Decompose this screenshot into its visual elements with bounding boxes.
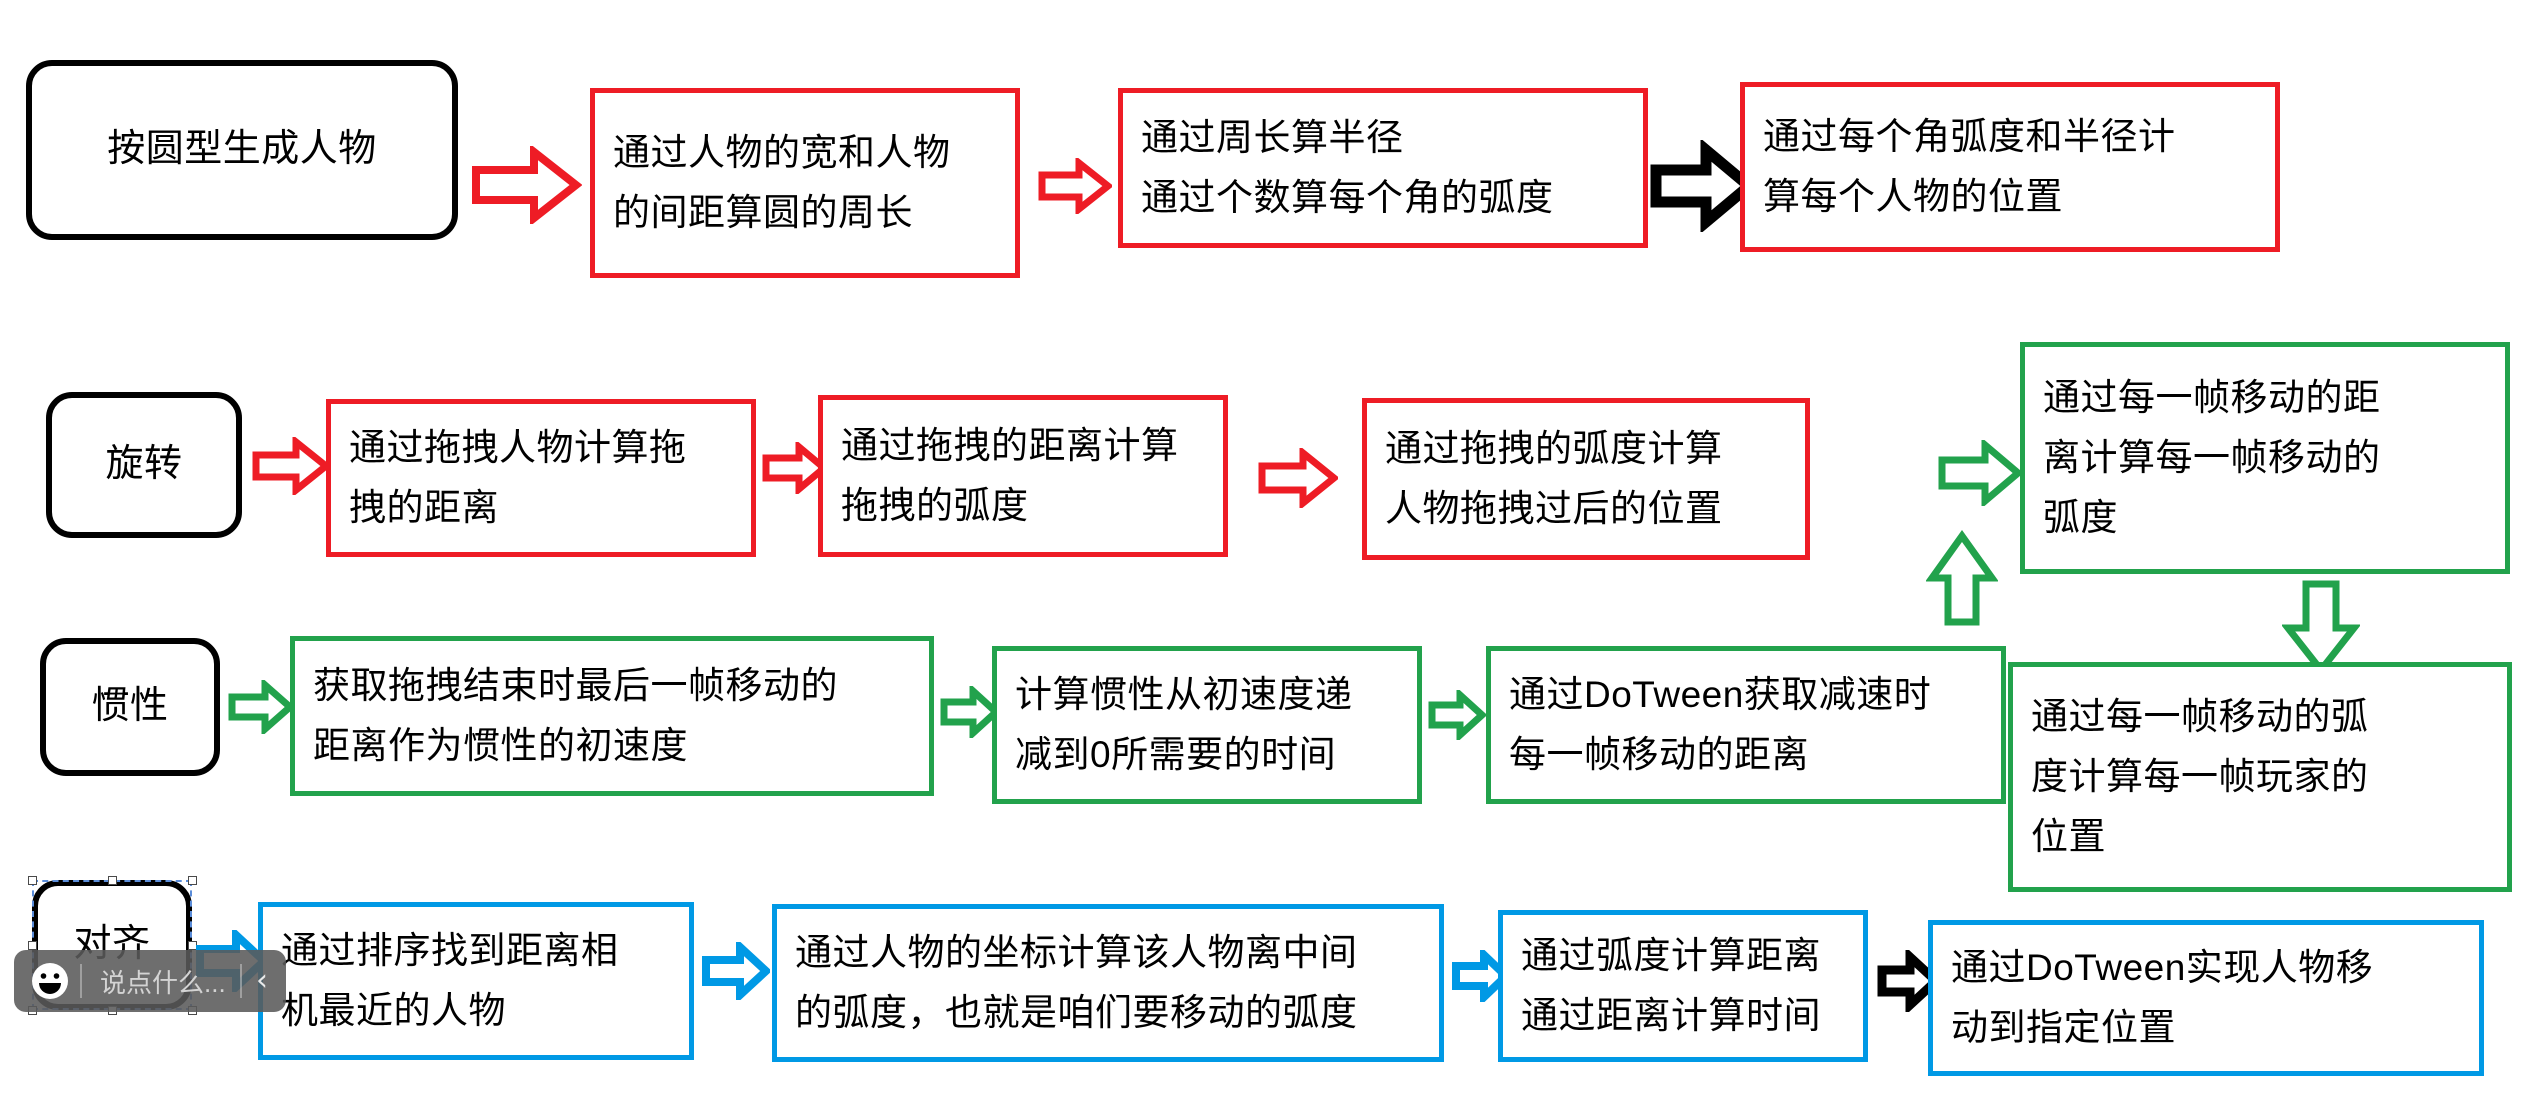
step-box-r4-4-label: 通过DoTween实现人物移 动到指定位置: [1933, 938, 2479, 1058]
step-box-r1-2[interactable]: 通过周长算半径 通过个数算每个角的弧度: [1118, 88, 1648, 248]
right-box-bottom[interactable]: 通过每一帧移动的弧 度计算每一帧玩家的 位置: [2008, 662, 2512, 892]
arrow-red-r2-3: [1258, 448, 1338, 508]
step-box-r3-3-label: 通过DoTween获取减速时 每一帧移动的距离: [1491, 665, 2001, 785]
start-node-rotate[interactable]: 旋转: [46, 392, 242, 538]
step-box-r2-2-label: 通过拖拽的距离计算 拖拽的弧度: [823, 416, 1223, 536]
arrow-green-to-right-top: [1938, 440, 2022, 506]
start-node-generate[interactable]: 按圆型生成人物: [26, 60, 458, 240]
arrow-red-r1-1: [472, 146, 582, 224]
step-box-r4-1[interactable]: 通过排序找到距离相 机最近的人物: [258, 902, 694, 1060]
start-node-inertia-label: 惯性: [91, 676, 168, 738]
chat-divider-left: [80, 964, 82, 998]
arrow-red-r2-1: [252, 437, 330, 495]
chat-input-bar[interactable]: 说点什么... ‹: [14, 950, 286, 1012]
step-box-r4-3-label: 通过弧度计算距离 通过距离计算时间: [1503, 926, 1863, 1046]
smiley-face-icon[interactable]: [30, 961, 70, 1001]
step-box-r1-3[interactable]: 通过每个角弧度和半径计 算每个人物的位置: [1740, 82, 2280, 252]
chevron-left-icon[interactable]: ‹: [252, 966, 286, 996]
arrow-red-r1-2: [1038, 158, 1112, 214]
selection-handle-n[interactable]: [108, 876, 117, 885]
step-box-r4-2[interactable]: 通过人物的坐标计算该人物离中间 的弧度，也就是咱们要移动的弧度: [772, 904, 1444, 1062]
flowchart-canvas: 按圆型生成人物 通过人物的宽和人物 的间距算圆的周长 通过周长算半径 通过个数算…: [0, 0, 2531, 1095]
right-box-bottom-label: 通过每一帧移动的弧 度计算每一帧玩家的 位置: [2013, 687, 2507, 867]
selection-handle-w[interactable]: [28, 941, 37, 950]
step-box-r2-1-label: 通过拖拽人物计算拖 拽的距离: [331, 418, 751, 538]
chat-placeholder[interactable]: 说点什么...: [92, 963, 230, 1000]
step-box-r2-3-label: 通过拖拽的弧度计算 人物拖拽过后的位置: [1367, 419, 1805, 539]
arrow-green-r3-3: [1428, 690, 1486, 740]
start-node-inertia[interactable]: 惯性: [40, 638, 220, 776]
arrow-green-r3-2: [940, 686, 1000, 738]
selection-handle-ne[interactable]: [188, 876, 197, 885]
step-box-r1-2-label: 通过周长算半径 通过个数算每个角的弧度: [1123, 108, 1643, 228]
step-box-r3-2[interactable]: 计算惯性从初速度递 减到0所需要的时间: [992, 646, 1422, 804]
chat-divider-right: [240, 964, 242, 998]
step-box-r2-1[interactable]: 通过拖拽人物计算拖 拽的距离: [326, 399, 756, 557]
start-node-rotate-label: 旋转: [105, 434, 182, 496]
selection-handle-nw[interactable]: [28, 876, 37, 885]
step-box-r3-2-label: 计算惯性从初速度递 减到0所需要的时间: [997, 665, 1417, 785]
step-box-r3-3[interactable]: 通过DoTween获取减速时 每一帧移动的距离: [1486, 646, 2006, 804]
step-box-r3-1[interactable]: 获取拖拽结束时最后一帧移动的 距离作为惯性的初速度: [290, 636, 934, 796]
step-box-r4-3[interactable]: 通过弧度计算距离 通过距离计算时间: [1498, 910, 1868, 1062]
step-box-r2-3[interactable]: 通过拖拽的弧度计算 人物拖拽过后的位置: [1362, 398, 1810, 560]
right-box-top-label: 通过每一帧移动的距 离计算每一帧移动的 弧度: [2025, 368, 2505, 548]
step-box-r3-1-label: 获取拖拽结束时最后一帧移动的 距离作为惯性的初速度: [295, 656, 929, 776]
right-box-top[interactable]: 通过每一帧移动的距 离计算每一帧移动的 弧度: [2020, 342, 2510, 574]
step-box-r4-1-label: 通过排序找到距离相 机最近的人物: [263, 921, 689, 1041]
step-box-r1-1[interactable]: 通过人物的宽和人物 的间距算圆的周长: [590, 88, 1020, 278]
arrow-green-up: [1926, 530, 1998, 626]
start-node-generate-label: 按圆型生成人物: [107, 119, 377, 181]
step-box-r2-2[interactable]: 通过拖拽的距离计算 拖拽的弧度: [818, 395, 1228, 557]
arrow-green-r3-1: [228, 680, 294, 734]
step-box-r1-3-label: 通过每个角弧度和半径计 算每个人物的位置: [1745, 107, 2275, 227]
step-box-r4-2-label: 通过人物的坐标计算该人物离中间 的弧度，也就是咱们要移动的弧度: [777, 923, 1439, 1043]
arrow-blue-r4-2: [702, 942, 770, 1000]
step-box-r4-4[interactable]: 通过DoTween实现人物移 动到指定位置: [1928, 920, 2484, 1076]
step-box-r1-1-label: 通过人物的宽和人物 的间距算圆的周长: [595, 123, 1015, 243]
